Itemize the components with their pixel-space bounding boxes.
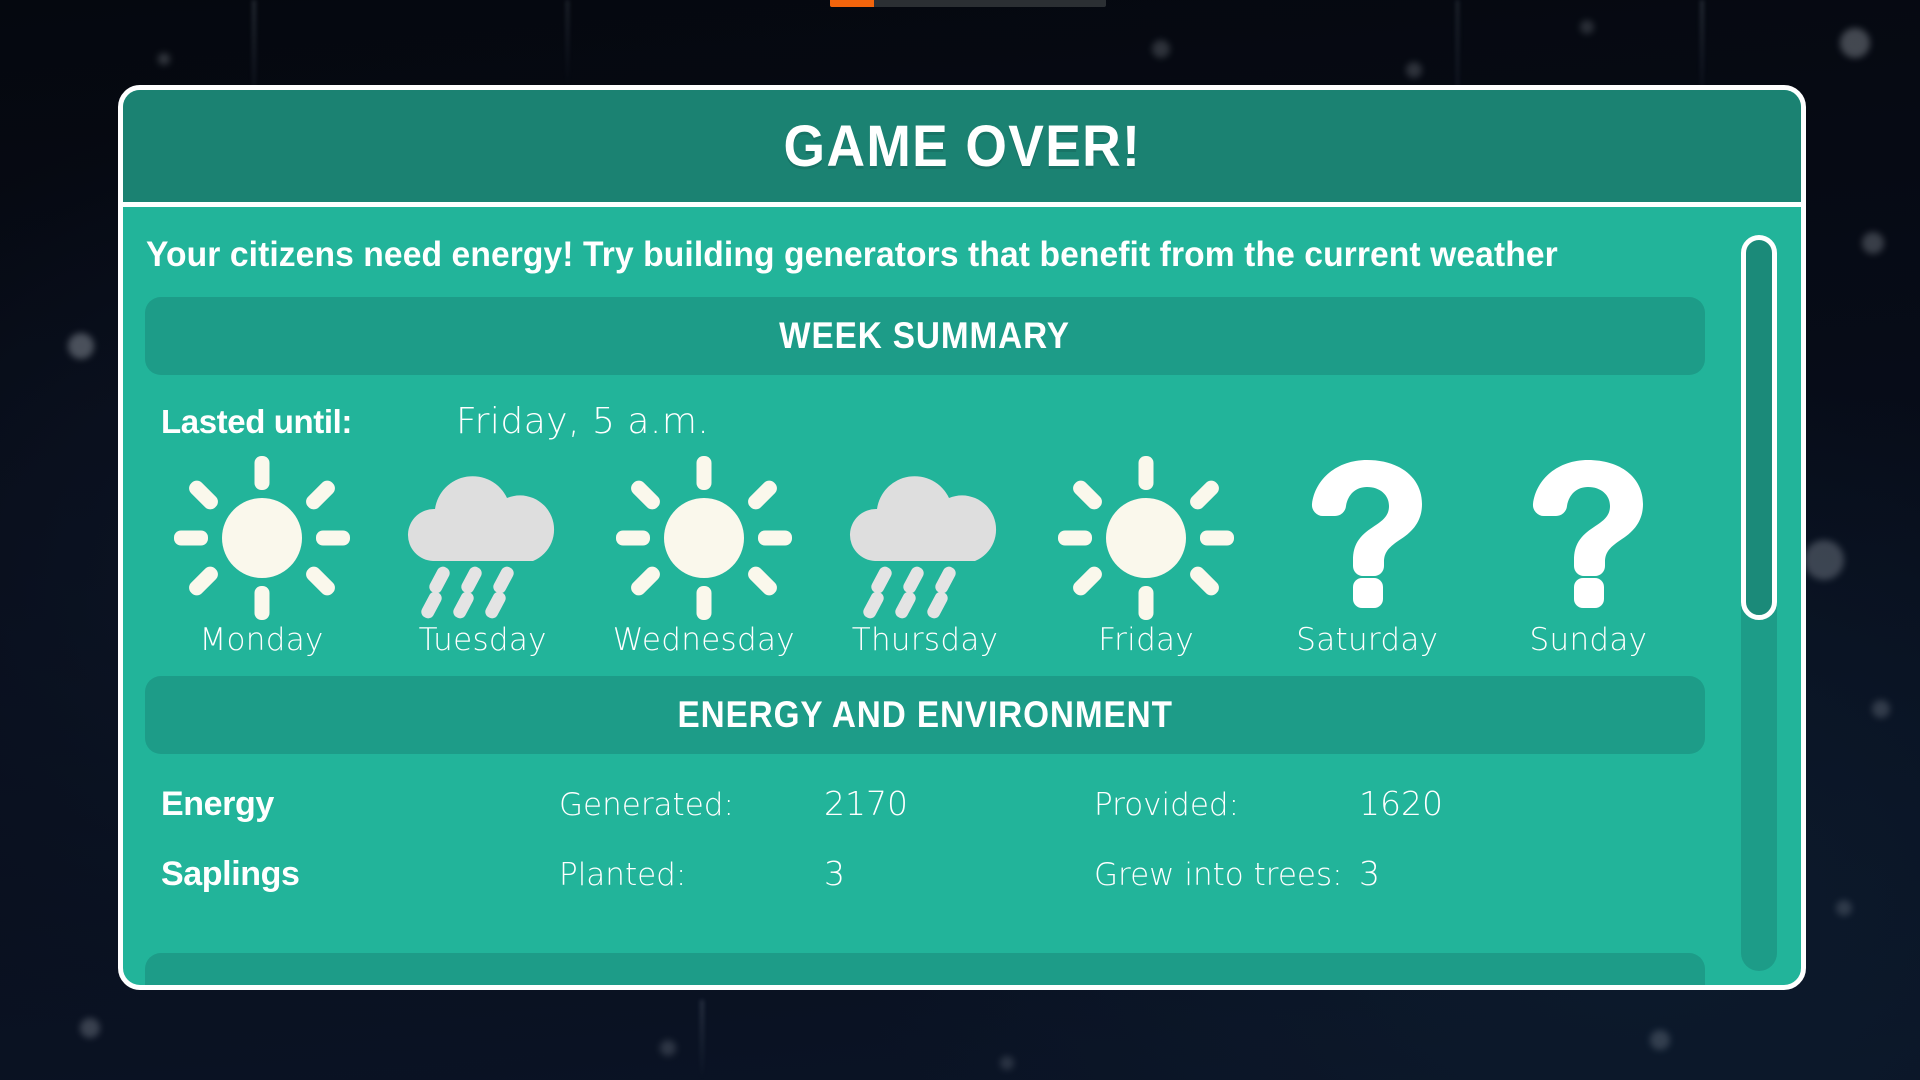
scrollbar-thumb[interactable] (1741, 235, 1777, 620)
stat-key-planted: Planted: (559, 857, 824, 893)
day-label: Friday (1098, 622, 1194, 658)
section-header-energy-environment: ENERGY AND ENVIRONMENT (145, 676, 1705, 754)
stat-title: Energy (161, 785, 559, 824)
dialog-body: Your citizens need energy! Try building … (123, 207, 1801, 985)
day-label: Wednesday (613, 622, 795, 658)
dialog-scroll-content: Your citizens need energy! Try building … (123, 207, 1801, 894)
section-label: WEEK SUMMARY (780, 315, 1071, 357)
day-column-tuesday: Tuesday (372, 456, 593, 658)
question-mark-icon (1500, 456, 1676, 620)
day-label: Thursday (852, 622, 999, 658)
game-screen: GAME OVER! Your citizens need energy! Tr… (0, 0, 1920, 1080)
day-column-monday: Monday (151, 456, 372, 658)
section-header-week-summary: WEEK SUMMARY (145, 297, 1705, 375)
stat-value-provided: 1620 (1359, 784, 1559, 823)
stat-row-saplings: Saplings Planted: 3 Grew into trees: 3 (145, 854, 1705, 894)
day-column-thursday: Thursday (814, 456, 1035, 658)
game-over-dialog: GAME OVER! Your citizens need energy! Tr… (118, 85, 1806, 990)
page-title: GAME OVER! (783, 113, 1141, 180)
day-label: Tuesday (419, 622, 547, 658)
section-header-next-clipped (145, 953, 1705, 985)
question-mark-icon (1279, 456, 1455, 620)
stat-key-grew-into-trees: Grew into trees: (1094, 857, 1359, 893)
day-column-saturday: Saturday (1257, 456, 1478, 658)
day-label: Sunday (1530, 622, 1648, 658)
stat-title: Saplings (161, 855, 559, 894)
hint-message: Your citizens need energy! Try building … (146, 235, 1643, 275)
sun-icon (174, 456, 350, 620)
weather-week-strip: Monday (145, 456, 1705, 658)
lasted-until-label: Lasted until: (161, 403, 456, 441)
vertical-scrollbar[interactable] (1741, 235, 1777, 971)
stat-value-planted: 3 (824, 854, 1094, 893)
day-label: Monday (199, 622, 323, 658)
day-column-sunday: Sunday (1478, 456, 1699, 658)
lasted-until-row: Lasted until: Friday, 5 a.m. (145, 401, 1705, 442)
stat-value-generated: 2170 (824, 784, 1094, 823)
rain-cloud-icon (395, 456, 571, 620)
day-label: Saturday (1296, 622, 1438, 658)
stat-key-provided: Provided: (1094, 787, 1359, 823)
stat-key-generated: Generated: (559, 787, 824, 823)
rain-cloud-icon (837, 456, 1013, 620)
sun-icon (1058, 456, 1234, 620)
loading-progress-fill (830, 0, 874, 7)
day-column-friday: Friday (1036, 456, 1257, 658)
section-label: ENERGY AND ENVIRONMENT (677, 694, 1172, 736)
loading-progress-bar (830, 0, 1106, 7)
lasted-until-value: Friday, 5 a.m. (456, 401, 709, 442)
stat-value-grew-into-trees: 3 (1359, 854, 1559, 893)
sun-icon (616, 456, 792, 620)
day-column-wednesday: Wednesday (593, 456, 814, 658)
stat-row-energy: Energy Generated: 2170 Provided: 1620 (145, 784, 1705, 824)
dialog-header: GAME OVER! (123, 90, 1801, 207)
